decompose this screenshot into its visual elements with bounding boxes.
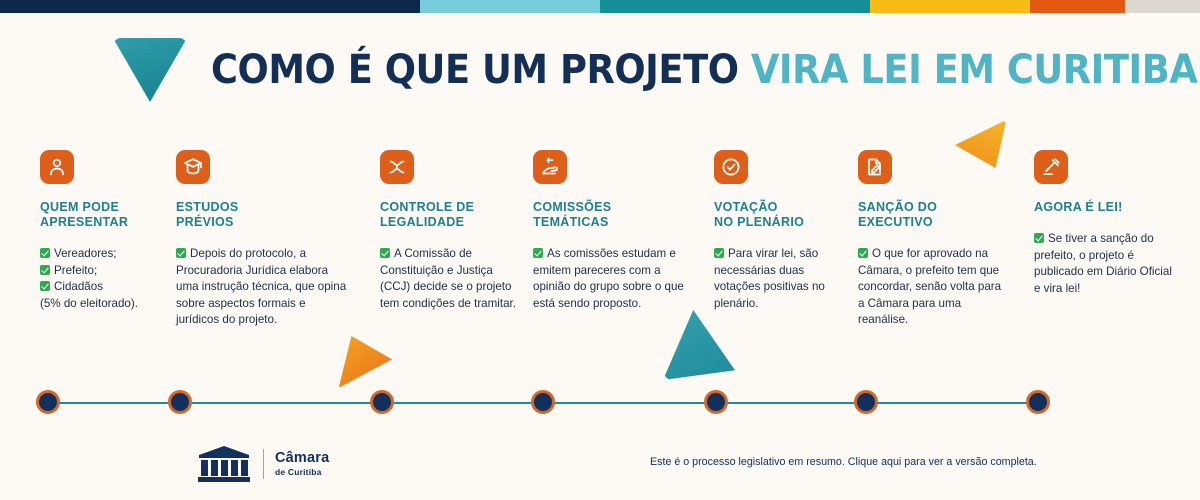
step-3-heading: CONTROLE DELEGALIDADE	[380, 200, 522, 230]
check-icon	[1034, 233, 1044, 243]
step-1-body: Vereadores;Prefeito;Cidadãos(5% do eleit…	[40, 246, 170, 312]
timeline-dot-4[interactable]	[531, 390, 555, 414]
step-6-heading: SANÇÃO DOEXECUTIVO	[858, 200, 1006, 230]
topbar-segment-navy	[0, 0, 420, 13]
check-icon	[40, 265, 50, 275]
camara-logo: Câmara de Curitiba	[196, 444, 329, 484]
list-item: O que for aprovado na Câmara, o prefeito…	[858, 246, 1006, 329]
step-6-body: O que for aprovado na Câmara, o prefeito…	[858, 246, 1006, 329]
topbar-segment-light-gray	[1125, 0, 1200, 13]
page-title-part1: COMO É QUE UM PROJETO	[211, 47, 739, 93]
step-1-heading: QUEM PODEAPRESENTAR	[40, 200, 170, 230]
hand-write-icon	[533, 150, 567, 184]
check-icon	[714, 248, 724, 258]
document-pen-icon	[858, 150, 892, 184]
step-5-heading: VOTAÇÃONO PLENÁRIO	[714, 200, 842, 230]
step-3: CONTROLE DELEGALIDADEA Comissão de Const…	[380, 150, 522, 312]
study-book-icon	[176, 150, 210, 184]
step-2-heading: ESTUDOSPRÉVIOS	[176, 200, 348, 230]
step-7: AGORA É LEI!Se tiver a sanção do prefeit…	[1034, 150, 1174, 297]
step-6: SANÇÃO DOEXECUTIVOO que for aprovado na …	[858, 150, 1006, 329]
step-3-body: A Comissão de Constituição e Justiça (CC…	[380, 246, 522, 312]
list-item: As comissões estudam e emitem pareceres …	[533, 246, 689, 312]
logo-divider	[263, 449, 264, 479]
list-item: Prefeito;	[40, 263, 170, 280]
step-2-body: Depois do protocolo, a Procuradoria Jurí…	[176, 246, 348, 329]
list-item: Se tiver a sanção do prefeito, o projeto…	[1034, 231, 1174, 297]
step-5: VOTAÇÃONO PLENÁRIOPara virar lei, são ne…	[714, 150, 842, 312]
check-icon	[380, 248, 390, 258]
steps-container: QUEM PODEAPRESENTARVereadores;Prefeito;C…	[0, 150, 1200, 340]
check-icon	[40, 281, 50, 291]
list-item: Cidadãos(5% do eleitorado).	[40, 279, 170, 312]
list-item: A Comissão de Constituição e Justiça (CC…	[380, 246, 522, 312]
timeline-dot-1[interactable]	[36, 390, 60, 414]
check-icon	[858, 248, 868, 258]
logo-subtitle: de Curitiba	[275, 468, 329, 477]
list-item: Depois do protocolo, a Procuradoria Jurí…	[176, 246, 348, 329]
title-row: COMO É QUE UM PROJETO VIRA LEI EM CURITI…	[0, 34, 1200, 106]
list-item: Para virar lei, são necessárias duas vot…	[714, 246, 842, 312]
topbar-segment-teal	[600, 0, 870, 13]
footer-note[interactable]: Este é o processo legislativo em resumo.…	[650, 456, 1037, 468]
check-circle-icon	[714, 150, 748, 184]
step-5-body: Para virar lei, são necessárias duas vot…	[714, 246, 842, 312]
logo-text: Câmara de Curitiba	[275, 451, 329, 477]
step-1: QUEM PODEAPRESENTARVereadores;Prefeito;C…	[40, 150, 170, 312]
topbar-segment-light-teal	[420, 0, 600, 13]
logo-name: Câmara	[275, 451, 329, 466]
timeline-dot-2[interactable]	[168, 390, 192, 414]
timeline-dot-5[interactable]	[704, 390, 728, 414]
person-icon	[40, 150, 74, 184]
step-4-heading: COMISSÕESTEMÁTICAS	[533, 200, 689, 230]
footer: Câmara de Curitiba Este é o processo leg…	[0, 440, 1200, 500]
top-color-bar	[0, 0, 1200, 13]
step-4-body: As comissões estudam e emitem pareceres …	[533, 246, 689, 312]
page-title: COMO É QUE UM PROJETO VIRA LEI EM CURITI…	[211, 47, 1197, 93]
building-icon	[196, 444, 252, 484]
check-icon	[176, 248, 186, 258]
gavel-icon	[1034, 150, 1068, 184]
step-4: COMISSÕESTEMÁTICASAs comissões estudam e…	[533, 150, 689, 312]
step-7-body: Se tiver a sanção do prefeito, o projeto…	[1034, 231, 1174, 297]
triangle-teal-decoration	[113, 38, 187, 102]
topbar-segment-orange	[1030, 0, 1125, 13]
step-2: ESTUDOSPRÉVIOSDepois do protocolo, a Pro…	[176, 150, 348, 329]
triangle-orange-decoration-1	[334, 336, 392, 388]
timeline-dot-7[interactable]	[1026, 390, 1050, 414]
check-icon	[40, 248, 50, 258]
timeline	[0, 390, 1200, 416]
step-7-heading: AGORA É LEI!	[1034, 200, 1174, 215]
topbar-segment-yellow	[870, 0, 1030, 13]
timeline-dot-6[interactable]	[854, 390, 878, 414]
check-icon	[533, 248, 543, 258]
balance-scale-icon	[380, 150, 414, 184]
timeline-dot-3[interactable]	[370, 390, 394, 414]
list-item: Vereadores;	[40, 246, 170, 263]
page-title-part2: VIRA LEI EM CURITIBA	[751, 47, 1198, 93]
